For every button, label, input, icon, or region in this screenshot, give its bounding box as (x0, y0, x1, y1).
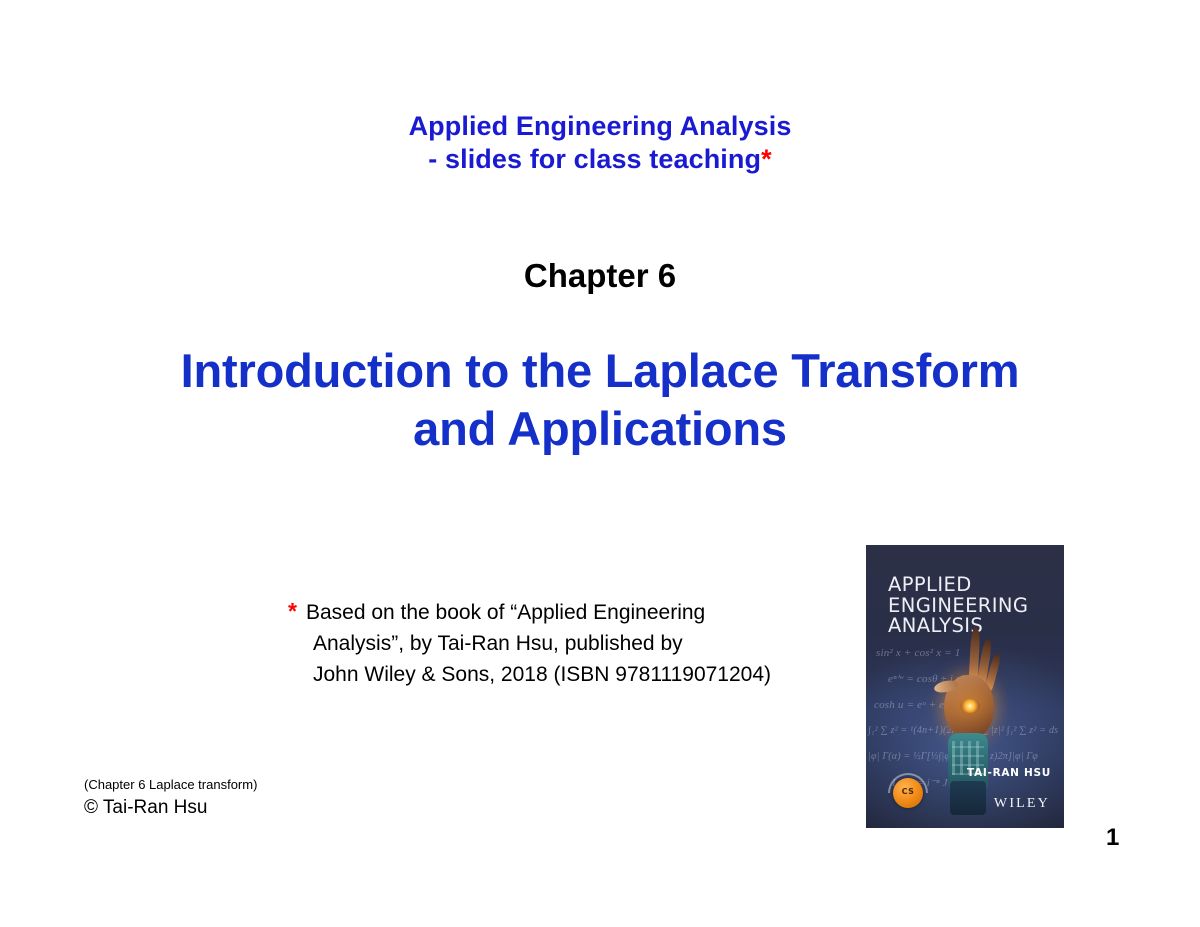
deck-title-line1: Applied Engineering Analysis (409, 111, 792, 141)
slide-canvas: Applied Engineering Analysis - slides fo… (0, 0, 1200, 927)
page-title: Introduction to the Laplace Transform an… (60, 342, 1140, 458)
chapter-reference: (Chapter 6 Laplace transform) (84, 776, 257, 793)
copyright-notice: © Tai-Ran Hsu (84, 795, 257, 820)
glowing-light-icon (960, 699, 980, 713)
footnote-line1: *Based on the book of “Applied Engineeri… (288, 596, 888, 628)
hand-sleeve (950, 781, 986, 815)
book-cover-author: TAI-RAN HSU (967, 767, 1051, 779)
deck-title-asterisk: * (761, 144, 772, 174)
page-title-line1: Introduction to the Laplace Transform (60, 342, 1140, 400)
credits: (Chapter 6 Laplace transform) © Tai-Ran … (84, 776, 257, 820)
chapter-label: Chapter 6 (0, 256, 1200, 296)
footnote: *Based on the book of “Applied Engineeri… (288, 596, 888, 690)
page-number: 1 (1106, 824, 1119, 852)
book-cover-image: APPLIED ENGINEERING ANALYSIS sin² x + co… (866, 545, 1064, 828)
book-cover-title-line2: ENGINEERING (888, 596, 1028, 617)
deck-title-line2-text: - slides for class teaching (428, 144, 761, 174)
page-title-line2: and Applications (60, 400, 1140, 458)
footnote-line3: John Wiley & Sons, 2018 (ISBN 9781119071… (288, 659, 888, 690)
publisher-seal-icon: CS (893, 778, 923, 808)
reaching-hand-illustration (938, 623, 1004, 813)
deck-title-line2: - slides for class teaching* (0, 143, 1200, 176)
footnote-asterisk: * (288, 598, 297, 624)
footnote-line1-text: Based on the book of “Applied Engineerin… (306, 601, 705, 624)
footnote-line2: Analysis”, by Tai-Ran Hsu, published by (288, 628, 888, 659)
deck-title: Applied Engineering Analysis - slides fo… (0, 110, 1200, 176)
book-cover-publisher: WILEY (994, 796, 1050, 812)
publisher-seal-label: CS (893, 787, 923, 796)
book-cover-title-line1: APPLIED (888, 575, 1028, 596)
